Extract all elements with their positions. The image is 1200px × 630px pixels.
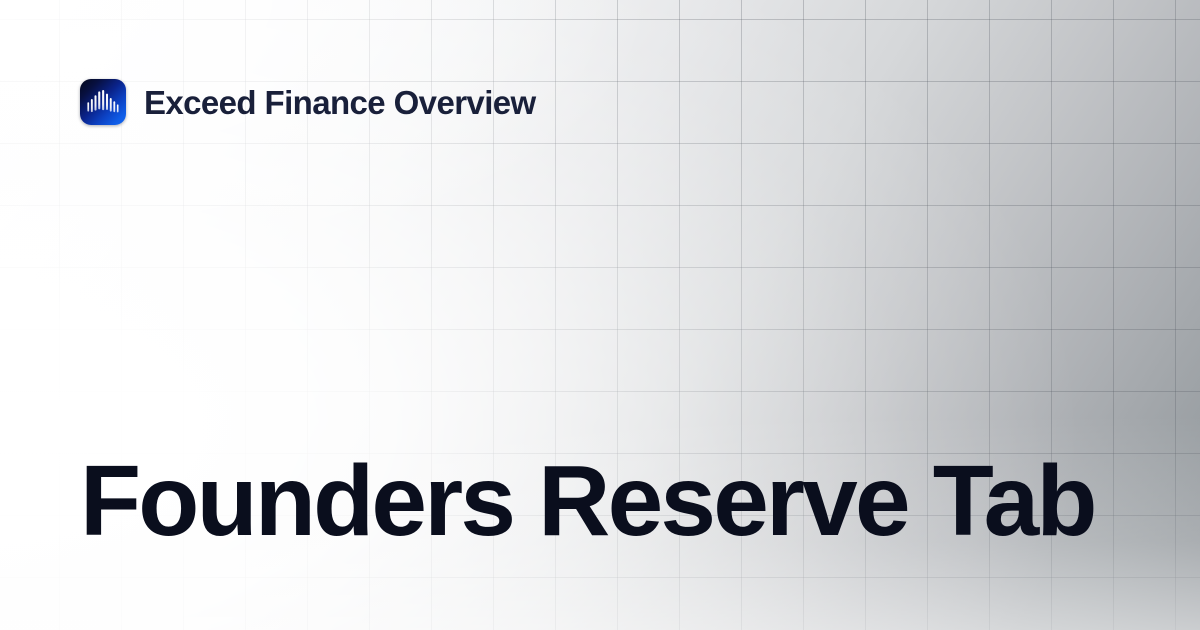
brand-name-label: Exceed Finance Overview: [144, 86, 536, 119]
content-layer: Exceed Finance Overview Founders Reserve…: [0, 0, 1200, 630]
page-title: Founders Reserve Tab: [80, 448, 1120, 554]
og-image-canvas: Exceed Finance Overview Founders Reserve…: [0, 0, 1200, 630]
bar-chart-logo-icon: [80, 79, 126, 125]
brand-row: Exceed Finance Overview: [80, 79, 536, 125]
